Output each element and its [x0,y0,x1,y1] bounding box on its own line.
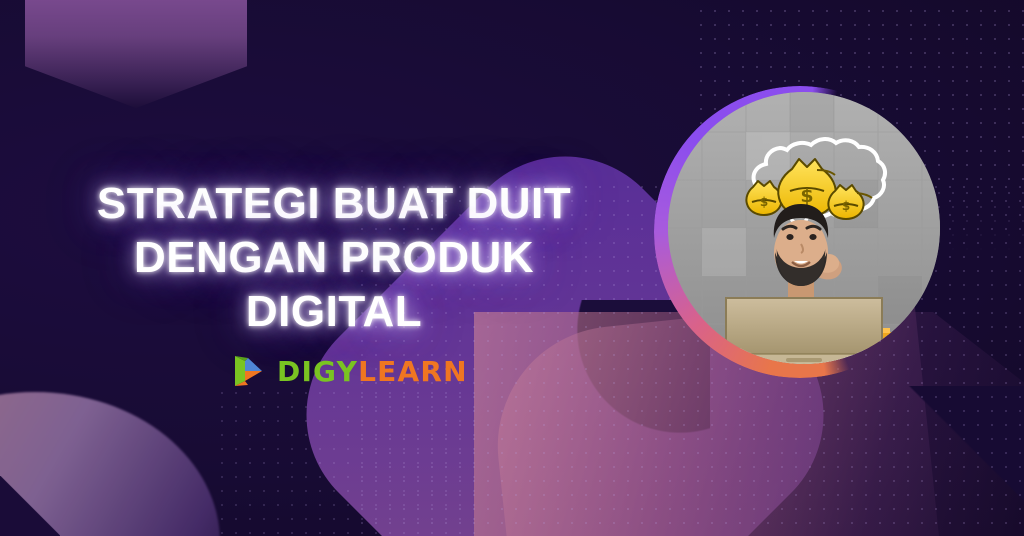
corner-cut-bottom-right [904,386,1024,536]
svg-text:$: $ [842,199,850,213]
brand-name-part1: DIGY [277,355,358,388]
corner-cut-bottom-left [0,476,60,536]
photo-illustration: $ $ $ [668,92,940,364]
page-title: STRATEGI BUAT DUIT DENGAN PRODUK DIGITAL [28,177,640,338]
svg-text:$: $ [800,185,813,207]
play-triangle-icon [232,352,268,390]
brand-logo-text: DIGY LEARN [277,355,468,388]
svg-text:$: $ [760,195,768,209]
hero-photo: $ $ $ [654,86,946,378]
promo-banner: STRATEGI BUAT DUIT DENGAN PRODUK DIGITAL… [0,0,1024,536]
brand-logo[interactable]: DIGY LEARN [232,352,468,390]
brand-name-part2: LEARN [358,355,468,388]
photo-circle-mask: $ $ $ [668,92,940,364]
